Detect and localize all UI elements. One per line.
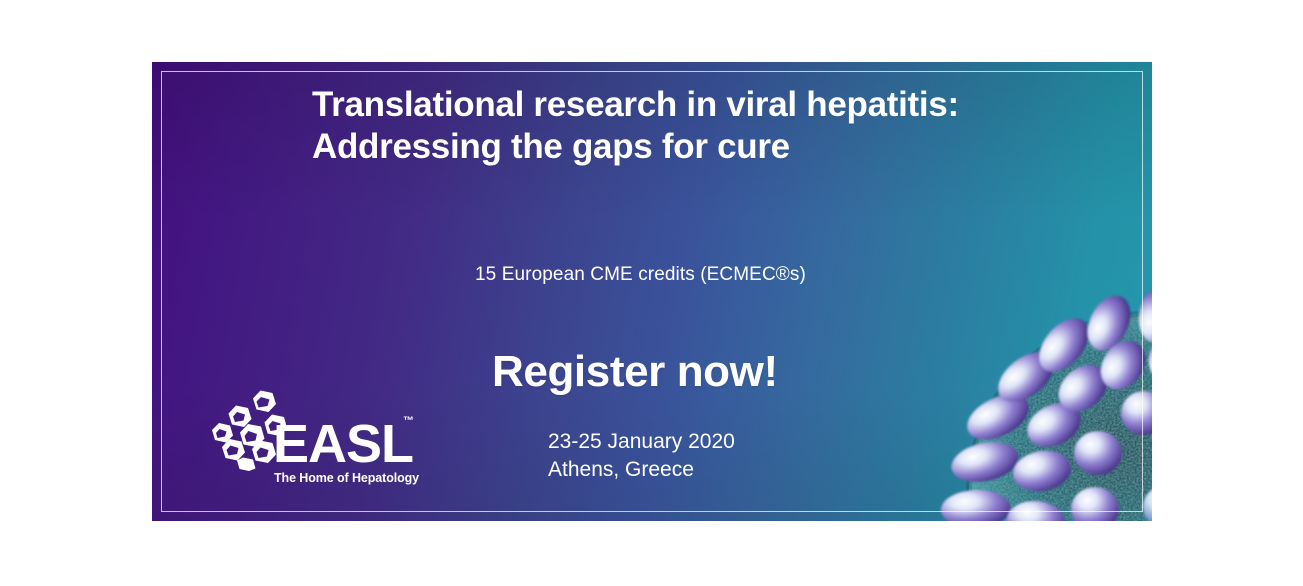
banner-title: Translational research in viral hepatiti… <box>312 84 1092 168</box>
event-location: Athens, Greece <box>548 456 735 484</box>
event-promo-banner: Translational research in viral hepatiti… <box>152 62 1152 521</box>
virus-particle-illustration <box>912 257 1152 521</box>
cme-credits-text: 15 European CME credits (ECMEC®s) <box>475 264 806 286</box>
easl-tagline: The Home of Hepatology <box>274 471 419 485</box>
register-now-cta[interactable]: Register now! <box>492 347 778 397</box>
virus-spikes <box>940 284 1152 521</box>
easl-wordmark: EASL <box>273 417 413 471</box>
virus-core <box>969 314 1152 521</box>
event-dates: 23-25 January 2020 <box>548 428 735 456</box>
easl-logo: EASL ™ The Home of Hepatology <box>210 389 410 499</box>
title-line-1: Translational research in viral hepatiti… <box>312 84 1092 126</box>
title-line-2: Addressing the gaps for cure <box>312 126 1092 168</box>
trademark-symbol: ™ <box>403 416 414 427</box>
event-details: 23-25 January 2020 Athens, Greece <box>548 428 735 484</box>
